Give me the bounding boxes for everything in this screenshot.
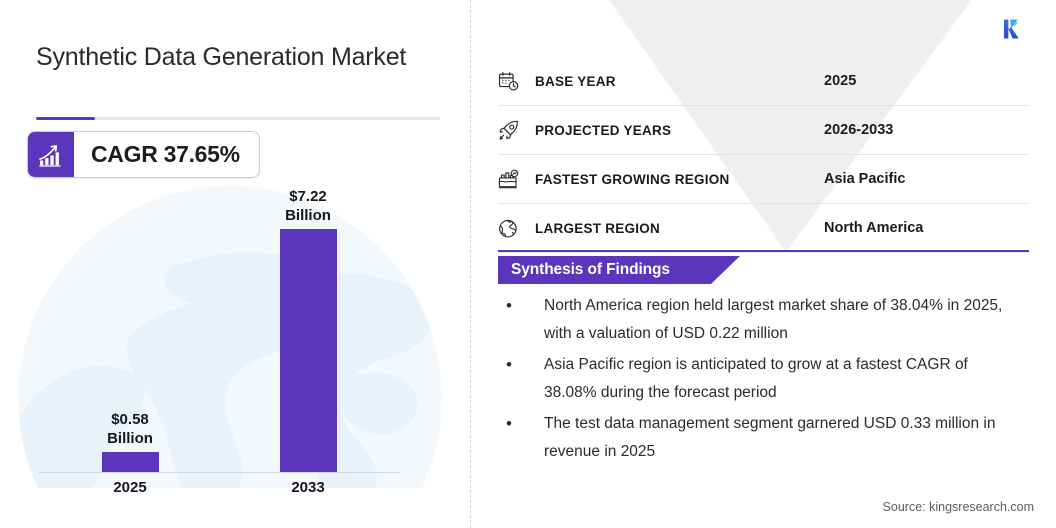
finding-text: Asia Pacific region is anticipated to gr… xyxy=(544,351,1018,407)
bar-chart-growth-icon xyxy=(28,132,74,177)
right-panel: BASE YEAR 2025 PROJECTED YEARS 2026-2033 xyxy=(471,0,1056,528)
chart-plot-area: $7.22 Billion $0.58 Billion xyxy=(38,196,438,473)
cagr-label: CAGR 37.65% xyxy=(74,132,259,177)
bullet-glyph: • xyxy=(498,351,544,407)
spec-table: BASE YEAR 2025 PROJECTED YEARS 2026-2033 xyxy=(498,57,1029,253)
bar-value-label: $0.58 Billion xyxy=(80,410,180,448)
source-attribution: Source: kingsresearch.com xyxy=(883,500,1034,514)
finding-text: North America region held largest market… xyxy=(544,292,1018,348)
findings-list: • North America region held largest mark… xyxy=(498,292,1018,469)
globe-icon xyxy=(498,218,535,239)
market-bar-chart: $7.22 Billion $0.58 Billion 2025 2033 xyxy=(38,196,438,506)
spec-value: 2026-2033 xyxy=(824,122,1029,138)
table-row: LARGEST REGION North America xyxy=(498,204,1029,253)
spec-value: North America xyxy=(824,220,1029,236)
page-title: Synthetic Data Generation Market xyxy=(36,40,436,74)
chart-bar-2025 xyxy=(102,452,159,472)
chart-bar-2033 xyxy=(280,229,337,472)
list-item: • The test data management segment garne… xyxy=(498,410,1018,466)
spec-label: LARGEST REGION xyxy=(535,221,824,236)
finding-text: The test data management segment garnere… xyxy=(544,410,1018,466)
spec-label: FASTEST GROWING REGION xyxy=(535,172,824,187)
market-infographic: Synthetic Data Generation Market xyxy=(0,0,1056,528)
chart-x-axis xyxy=(38,472,400,473)
table-row: BASE YEAR 2025 xyxy=(498,57,1029,106)
table-row: FASTEST GROWING REGION Asia Pacific xyxy=(498,155,1029,204)
chart-x-tick: 2025 xyxy=(80,479,180,496)
list-item: • North America region held largest mark… xyxy=(498,292,1018,348)
findings-top-rule xyxy=(498,250,1029,252)
bar-value-label: $7.22 Billion xyxy=(258,187,358,225)
spec-label: BASE YEAR xyxy=(535,74,824,89)
chart-x-tick: 2033 xyxy=(258,479,358,496)
bullet-glyph: • xyxy=(498,292,544,348)
spec-value: 2025 xyxy=(824,73,1029,89)
findings-heading-banner: Synthesis of Findings xyxy=(498,256,740,284)
spec-label: PROJECTED YEARS xyxy=(535,123,824,138)
title-accent-rule xyxy=(36,117,440,120)
bullet-glyph: • xyxy=(498,410,544,466)
list-item: • Asia Pacific region is anticipated to … xyxy=(498,351,1018,407)
kings-research-logo xyxy=(1000,14,1030,44)
left-panel: Synthetic Data Generation Market xyxy=(0,0,470,528)
calendar-clock-icon xyxy=(498,71,535,92)
cagr-badge: CAGR 37.65% xyxy=(27,131,260,178)
table-row: PROJECTED YEARS 2026-2033 xyxy=(498,106,1029,155)
spec-value: Asia Pacific xyxy=(824,171,1029,187)
findings-heading: Synthesis of Findings xyxy=(498,261,670,279)
city-growth-icon xyxy=(498,169,535,190)
rocket-icon xyxy=(498,120,535,141)
